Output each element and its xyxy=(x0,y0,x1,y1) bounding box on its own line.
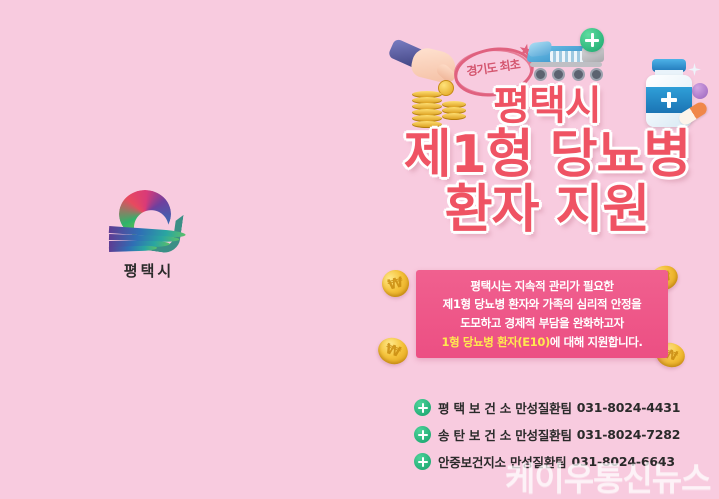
headline-line-3: 환자 지원 xyxy=(382,184,712,237)
description-line-1: 평택시는 지속적 관리가 필요한 xyxy=(470,277,613,296)
poster-canvas: 평택시 경기도 최초 ★ xyxy=(0,0,719,499)
gurney-base-shape xyxy=(530,62,602,67)
poster-headline: 평택시 제1형 당뇨병 환자 지원 xyxy=(382,86,712,237)
contact-office-1: 평 택 보 건 소 만성질환팀 xyxy=(438,398,572,417)
contact-row: 안중보건지소 만성질환팀 031-8024-6643 xyxy=(414,452,714,471)
gurney-wheel-icon xyxy=(590,68,603,81)
gurney-rail-shape xyxy=(550,51,586,62)
floating-coin-icon: ₩ xyxy=(379,267,412,300)
logo-field-lines-icon xyxy=(109,226,189,254)
description-line-4-rest: 에 대해 지원합니다. xyxy=(550,335,643,349)
floating-coin-icon: ₩ xyxy=(375,334,412,368)
contact-office-2: 송 탄 보 건 소 만성질환팀 xyxy=(438,425,572,444)
contact-list: 평 택 보 건 소 만성질환팀 031-8024-4431 송 탄 보 건 소 … xyxy=(414,398,714,479)
description-box: 평택시는 지속적 관리가 필요한 제1형 당뇨병 환자와 가족의 심리적 안정을… xyxy=(416,270,668,358)
sparkle-icon xyxy=(688,63,701,76)
gurney-wheel-icon xyxy=(572,68,585,81)
medical-cross-icon xyxy=(414,453,431,470)
medical-cross-icon xyxy=(414,426,431,443)
medical-cross-badge-icon xyxy=(580,28,604,52)
pyeongtaek-city-logo: 평택시 xyxy=(103,190,195,285)
coin-symbol: ₩ xyxy=(383,341,403,361)
contact-row: 송 탄 보 건 소 만성질환팀 031-8024-7282 xyxy=(414,425,714,444)
gurney-wheel-icon xyxy=(552,68,565,81)
gurney-wheel-icon xyxy=(534,68,547,81)
description-line-2: 제1형 당뇨병 환자와 가족의 심리적 안정을 xyxy=(443,295,642,314)
headline-line-2: 제1형 당뇨병 xyxy=(382,129,712,182)
contact-phone-3[interactable]: 031-8024-6643 xyxy=(571,454,674,469)
contact-phone-2[interactable]: 031-8024-7282 xyxy=(577,427,680,442)
contact-office-3: 안중보건지소 만성질환팀 xyxy=(438,452,566,471)
city-logo-label: 평택시 xyxy=(103,260,195,281)
description-line-4: 1형 당뇨병 환자(E10)에 대해 지원합니다. xyxy=(442,333,643,352)
headline-line-1: 평택시 xyxy=(382,86,712,127)
contact-phone-1[interactable]: 031-8024-4431 xyxy=(577,400,680,415)
city-logo-mark xyxy=(103,190,195,256)
medical-cross-icon xyxy=(414,399,431,416)
coin-symbol: ₩ xyxy=(386,274,405,293)
description-line-3: 도모하고 경제적 부담을 완화하고자 xyxy=(460,314,624,333)
contact-row: 평 택 보 건 소 만성질환팀 031-8024-4431 xyxy=(414,398,714,417)
description-highlight: 1형 당뇨병 환자(E10) xyxy=(442,335,550,349)
